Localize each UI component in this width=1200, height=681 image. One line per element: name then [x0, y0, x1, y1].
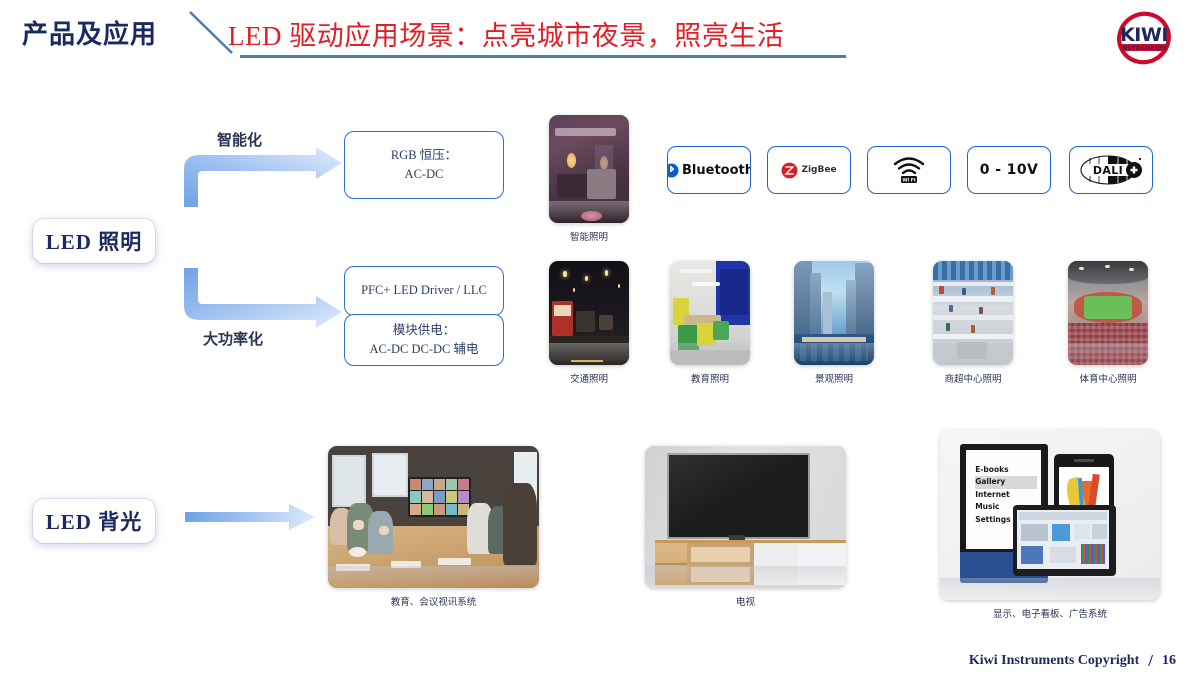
zigbee-icon — [781, 162, 798, 179]
header-underline — [240, 55, 846, 58]
ereader-item-2: Gallery — [975, 476, 1037, 488]
bluetooth-icon-wrap: Bluetooth — [667, 163, 751, 178]
protocol-badge-zigbee[interactable]: ZigBee — [767, 146, 851, 194]
elbow-arrow-down-right-icon — [176, 268, 346, 330]
protocol-label-0-10v: 0 - 10V — [980, 162, 1038, 178]
wifi-icon: WI FI — [892, 155, 926, 185]
elbow-arrow-up-right-icon — [176, 145, 346, 207]
thumbnail-education[interactable]: 教育照明 — [670, 261, 750, 385]
protocol-label-zigbee: ZigBee — [801, 165, 836, 175]
thumbnail-caption-tv: 电视 — [645, 594, 846, 608]
thumbnail-caption-conference: 教育、会议视讯系统 — [328, 594, 539, 608]
box-pfc-led-driver: PFC+ LED Driver / LLC — [344, 266, 504, 316]
dali-icon: DALI — [1078, 153, 1144, 187]
svg-text:DALI: DALI — [1093, 164, 1123, 177]
ereader-item-1: E-books — [975, 464, 1037, 476]
straight-arrow-right-icon — [185, 503, 317, 531]
protocol-badge-wifi[interactable]: WI FI — [867, 146, 951, 194]
thumbnail-landscape[interactable]: 景观照明 — [794, 261, 874, 385]
section-badge-backlight: LED 背光 — [33, 499, 155, 543]
box-module-power: 模块供电： AC-DC DC-DC 辅电 — [344, 314, 504, 366]
slide-footer: Kiwi Instruments Copyright / 16 — [969, 651, 1176, 671]
section-badge-lighting: LED 照明 — [33, 219, 155, 263]
thumbnail-mall[interactable]: 商超中心照明 — [933, 261, 1013, 385]
box-rgb-line2: AC-DC — [405, 165, 444, 184]
svg-text:INSTRUMENTS: INSTRUMENTS — [1120, 46, 1167, 52]
footer-page-number: 16 — [1162, 653, 1176, 669]
footer-copyright: Kiwi Instruments Copyright — [969, 653, 1139, 669]
protocol-label-bluetooth: Bluetooth — [682, 163, 751, 178]
box-module-line1: 模块供电： — [393, 321, 456, 340]
ereader-item-3: Internet — [975, 489, 1037, 501]
footer-separator: / — [1148, 651, 1153, 671]
box-module-line2: AC-DC DC-DC 辅电 — [369, 340, 478, 359]
arrow-label-power: 大功率化 — [203, 328, 263, 349]
thumbnail-tv[interactable]: 电视 — [645, 446, 846, 608]
slide-header: 产品及应用 LED 驱动应用场景：点亮城市夜景，照亮生活 — [0, 0, 1200, 80]
header-title: LED 驱动应用场景：点亮城市夜景，照亮生活 — [228, 14, 784, 53]
slide-root: 产品及应用 LED 驱动应用场景：点亮城市夜景，照亮生活 KIWI INSTRU… — [0, 0, 1200, 681]
zigbee-icon-wrap: ZigBee — [781, 162, 836, 179]
protocol-badge-bluetooth[interactable]: Bluetooth — [667, 146, 751, 194]
thumbnail-caption-smart-lighting: 智能照明 — [549, 229, 629, 243]
protocol-badge-0-10v[interactable]: 0 - 10V — [967, 146, 1051, 194]
header-category: 产品及应用 — [22, 14, 157, 51]
thumbnail-caption-mall: 商超中心照明 — [933, 371, 1013, 385]
box-rgb-line1: RGB 恒压： — [391, 146, 457, 165]
thumbnail-smart-lighting[interactable]: 智能照明 — [549, 115, 629, 243]
bluetooth-icon — [667, 163, 679, 178]
box-pfc-line1: PFC+ LED Driver / LLC — [361, 281, 487, 300]
thumbnail-stadium[interactable]: 体育中心照明 — [1068, 261, 1148, 385]
thumbnail-caption-display: 显示、电子看板、广告系统 — [940, 606, 1160, 620]
thumbnail-caption-education: 教育照明 — [670, 371, 750, 385]
thumbnail-caption-landscape: 景观照明 — [794, 371, 874, 385]
thumbnail-caption-stadium: 体育中心照明 — [1068, 371, 1148, 385]
svg-text:WI FI: WI FI — [902, 178, 916, 184]
thumbnail-traffic[interactable]: 交通照明 — [549, 261, 629, 385]
kiwi-logo: KIWI INSTRUMENTS — [1106, 10, 1182, 66]
box-rgb-constant-voltage: RGB 恒压： AC-DC — [344, 131, 504, 199]
thumbnail-caption-traffic: 交通照明 — [549, 371, 629, 385]
svg-text:KIWI: KIWI — [1120, 24, 1168, 46]
thumbnail-conference[interactable]: 教育、会议视讯系统 — [328, 446, 539, 608]
protocol-badge-dali[interactable]: DALI — [1069, 146, 1153, 194]
thumbnail-display[interactable]: E-books Gallery Internet Music Settings — [940, 430, 1160, 620]
